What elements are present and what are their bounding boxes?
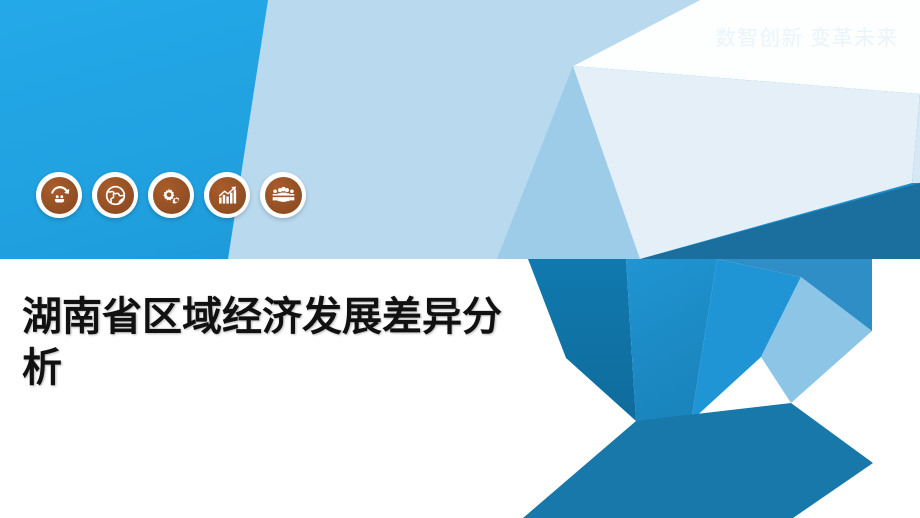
icon-disc <box>265 177 302 214</box>
icon-disc <box>41 177 78 214</box>
icon-badge-globe[interactable] <box>92 172 138 218</box>
gears-icon <box>160 184 183 207</box>
presentation-title-slide: 数智创新 变革未来 <box>0 0 920 518</box>
title-block: 湖南省区域经济发展差异分析 <box>22 292 522 394</box>
slide-tagline: 数智创新 变革未来 <box>715 26 898 51</box>
icon-disc <box>209 177 246 214</box>
people-group-icon <box>272 184 295 207</box>
decorative-background-art <box>0 0 920 518</box>
icon-badge-recycle-refresh[interactable] <box>36 172 82 218</box>
recycle-refresh-icon <box>48 184 71 207</box>
globe-icon <box>104 184 127 207</box>
icon-badge-gears[interactable] <box>148 172 194 218</box>
icon-badge-bar-chart-growth[interactable] <box>204 172 250 218</box>
icon-disc <box>97 177 134 214</box>
icon-disc <box>153 177 190 214</box>
icon-badge-row <box>36 172 306 218</box>
page-title: 湖南省区域经济发展差异分析 <box>22 292 522 394</box>
icon-badge-people-group[interactable] <box>260 172 306 218</box>
bar-chart-growth-icon <box>216 184 239 207</box>
